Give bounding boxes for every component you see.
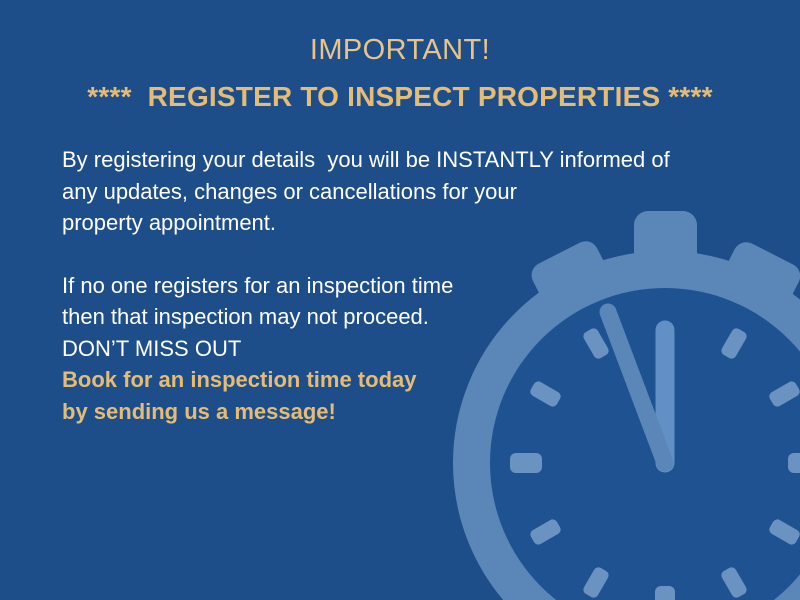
paragraph-registering-details: By registering your details you will be … bbox=[62, 144, 722, 239]
call-to-action-block: DON’T MISS OUT Book for an inspection ti… bbox=[62, 333, 722, 428]
page-title-register: **** REGISTER TO INSPECT PROPERTIES **** bbox=[0, 76, 800, 118]
page-title-important: IMPORTANT! bbox=[0, 30, 800, 70]
body-copy: By registering your details you will be … bbox=[62, 144, 722, 427]
cta-book-inspection: Book for an inspection time today bbox=[62, 364, 722, 396]
heading-block: IMPORTANT! **** REGISTER TO INSPECT PROP… bbox=[0, 30, 800, 118]
cta-dont-miss-out: DON’T MISS OUT bbox=[62, 333, 722, 365]
cta-send-message: by sending us a message! bbox=[62, 396, 722, 428]
bezel-tab-right bbox=[721, 238, 800, 310]
slide-canvas: IMPORTANT! **** REGISTER TO INSPECT PROP… bbox=[0, 0, 800, 600]
paragraph-no-registrations: If no one registers for an inspection ti… bbox=[62, 270, 722, 333]
